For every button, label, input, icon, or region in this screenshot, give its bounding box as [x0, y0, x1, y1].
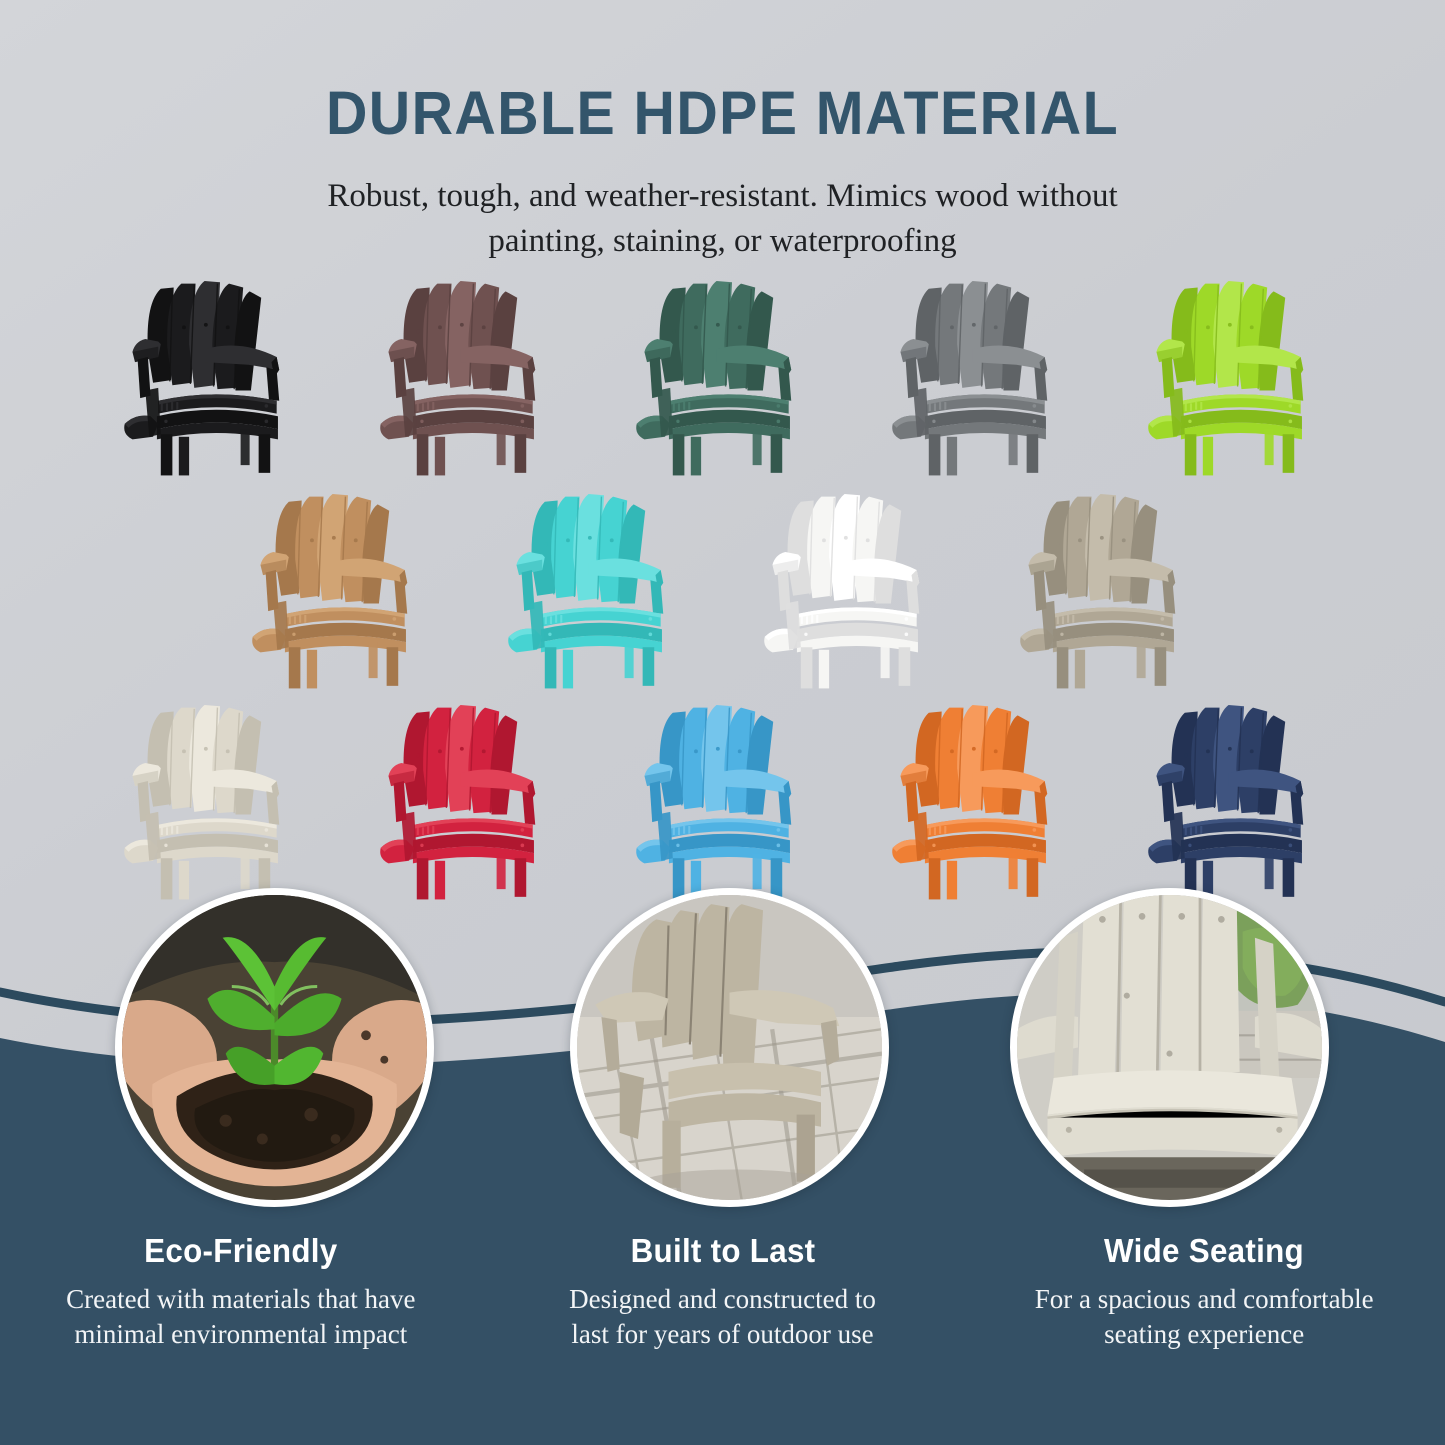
feature-image-built-to-last [570, 888, 889, 1207]
caption-body: Created with materials that have minimal… [12, 1282, 470, 1352]
chair-color-grid [0, 272, 1445, 912]
adirondack-chair [496, 485, 694, 691]
chair-row-1 [0, 272, 1445, 478]
feature-images [0, 888, 1445, 1228]
adirondack-chair [1008, 485, 1206, 691]
chair-swatch-brown[interactable] [368, 272, 566, 478]
feature-image-wide-seating [1010, 888, 1329, 1207]
chair-swatch-orange[interactable] [880, 696, 1078, 902]
caption-built-to-last: Built to Last Designed and constructed t… [482, 1232, 964, 1417]
chair-swatch-navy-blue[interactable] [1136, 696, 1334, 902]
hands-holding-seedling-icon [122, 895, 427, 1200]
chair-back [915, 281, 1029, 390]
chair-back [403, 281, 517, 390]
chair-swatch-driftwood[interactable] [1008, 485, 1206, 691]
chair-back [403, 705, 517, 814]
caption-body-line-2: minimal environmental impact [74, 1319, 407, 1349]
caption-body: Designed and constructed to last for yea… [508, 1282, 938, 1352]
adirondack-chair [624, 696, 822, 902]
chair-back [915, 705, 1029, 814]
adirondack-chair [112, 272, 310, 478]
caption-title: Wide Seating [995, 1232, 1413, 1270]
caption-body-line-1: For a spacious and comfortable [1035, 1284, 1374, 1314]
adirondack-chair [1136, 696, 1334, 902]
chair-back [147, 281, 261, 390]
page-title: DURABLE HDPE MATERIAL [43, 0, 1401, 148]
chair-back [147, 705, 261, 814]
chair-swatch-red[interactable] [368, 696, 566, 902]
adirondack-chair-photo-icon [577, 895, 882, 1200]
caption-title: Eco-Friendly [23, 1232, 458, 1270]
caption-wide-seating: Wide Seating For a spacious and comforta… [963, 1232, 1445, 1417]
chair-swatch-dark-green[interactable] [624, 272, 822, 478]
chair-swatch-beige[interactable] [112, 696, 310, 902]
adirondack-chair [368, 696, 566, 902]
chair-row-3 [0, 696, 1445, 902]
caption-body-line-2: last for years of outdoor use [571, 1319, 873, 1349]
chair-swatch-teak[interactable] [240, 485, 438, 691]
feature-image-eco-friendly [115, 888, 434, 1207]
caption-eco-friendly: Eco-Friendly Created with materials that… [0, 1232, 482, 1417]
infographic-page: DURABLE HDPE MATERIAL Robust, tough, and… [0, 0, 1445, 1445]
adirondack-chair [880, 696, 1078, 902]
subtitle-line-2: painting, staining, or waterproofing [228, 219, 1218, 264]
chair-back [1171, 281, 1285, 390]
caption-body-line-1: Designed and constructed to [569, 1284, 876, 1314]
wide-seat-closeup-icon [1017, 895, 1322, 1200]
adirondack-chair [240, 485, 438, 691]
chair-back [1171, 705, 1285, 814]
adirondack-chair [880, 272, 1078, 478]
chair-swatch-gray[interactable] [880, 272, 1078, 478]
adirondack-chair [1136, 272, 1334, 478]
adirondack-chair [112, 696, 310, 902]
chair-swatch-white[interactable] [752, 485, 950, 691]
subtitle-line-1: Robust, tough, and weather-resistant. Mi… [228, 174, 1218, 219]
caption-body-line-2: seating experience [1104, 1319, 1304, 1349]
chair-back [787, 494, 901, 603]
chair-swatch-turquoise[interactable] [496, 485, 694, 691]
feature-captions: Eco-Friendly Created with materials that… [0, 1232, 1445, 1417]
adirondack-chair [624, 272, 822, 478]
adirondack-chair [368, 272, 566, 478]
caption-body-line-1: Created with materials that have [66, 1284, 415, 1314]
chair-swatch-lime-green[interactable] [1136, 272, 1334, 478]
chair-swatch-light-blue[interactable] [624, 696, 822, 902]
chair-back [1043, 494, 1157, 603]
chair-back [659, 705, 773, 814]
chair-back [659, 281, 773, 390]
caption-body: For a spacious and comfortable seating e… [984, 1282, 1424, 1352]
chair-row-2 [0, 485, 1445, 691]
chair-swatch-black[interactable] [112, 272, 310, 478]
page-subtitle: Robust, tough, and weather-resistant. Mi… [228, 174, 1218, 264]
caption-title: Built to Last [518, 1232, 927, 1270]
chair-back [275, 494, 389, 603]
adirondack-chair [752, 485, 950, 691]
chair-back [531, 494, 645, 603]
header: DURABLE HDPE MATERIAL Robust, tough, and… [0, 0, 1445, 264]
